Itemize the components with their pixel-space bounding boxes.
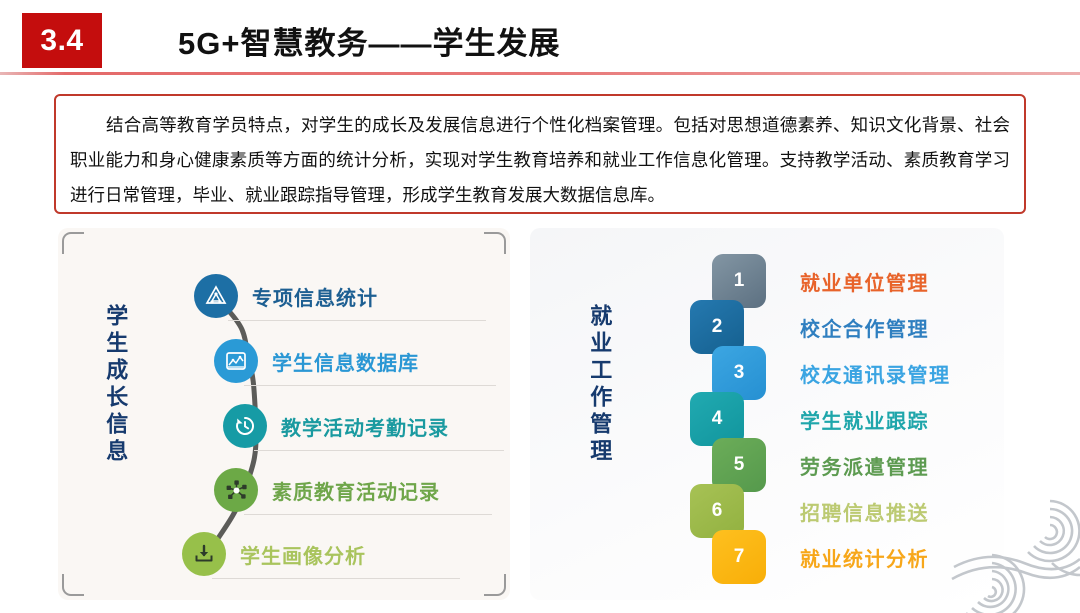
tile-label: 就业单位管理	[800, 267, 929, 296]
section-number-badge: 3.4	[22, 13, 102, 68]
tile-number-badge: 7	[712, 530, 766, 584]
employment-work-vertical-label: 就业工作管理	[586, 304, 611, 466]
flow-node-label: 学生画像分析	[240, 540, 366, 569]
student-growth-card: 学生成长信息 专项信息统计	[58, 228, 510, 600]
network-icon	[214, 468, 258, 512]
import-icon	[182, 532, 226, 576]
node-divider	[244, 514, 492, 515]
flow-node-special-info-statistics[interactable]: 专项信息统计	[194, 274, 378, 318]
flow-node-label: 素质教育活动记录	[272, 476, 440, 505]
node-divider	[228, 320, 486, 321]
flow-node-label: 学生信息数据库	[272, 347, 419, 376]
node-divider	[244, 385, 496, 386]
chart-icon	[214, 339, 258, 383]
page-header: 3.4 5G+智慧教务——学生发展	[0, 0, 1080, 72]
pyramid-icon	[194, 274, 238, 318]
tile-label: 学生就业跟踪	[800, 405, 929, 434]
spiral-rings-decoration	[946, 463, 1080, 613]
tile-label: 劳务派遣管理	[800, 451, 929, 480]
tile-label: 就业统计分析	[800, 543, 929, 572]
section-number: 3.4	[40, 24, 83, 58]
page-title: 5G+智慧教务——学生发展	[178, 18, 560, 63]
tile-row-employment-statistics-analysis[interactable]: 7 就业统计分析	[712, 530, 929, 584]
flow-node-student-profile-analysis[interactable]: 学生画像分析	[182, 532, 366, 576]
tile-label: 招聘信息推送	[800, 497, 929, 526]
intro-box: 结合高等教育学员特点，对学生的成长及发展信息进行个性化档案管理。包括对思想道德素…	[54, 94, 1026, 214]
node-divider	[254, 450, 504, 451]
intro-paragraph: 结合高等教育学员特点，对学生的成长及发展信息进行个性化档案管理。包括对思想道德素…	[56, 96, 1024, 214]
flow-node-label: 专项信息统计	[252, 282, 378, 311]
tile-label: 校友通讯录管理	[800, 359, 951, 388]
flow-node-quality-education-record[interactable]: 素质教育活动记录	[214, 468, 440, 512]
flow-node-label: 教学活动考勤记录	[281, 412, 449, 441]
flow-node-student-info-database[interactable]: 学生信息数据库	[214, 339, 419, 383]
employment-work-card: 就业工作管理 1 就业单位管理 2 校企合作管理 3 校友通讯录管理 4 学生就…	[530, 228, 1004, 600]
history-icon	[223, 404, 267, 448]
tile-label: 校企合作管理	[800, 313, 929, 342]
node-divider	[212, 578, 460, 579]
header-divider	[0, 72, 1080, 75]
flow-node-teaching-attendance-record[interactable]: 教学活动考勤记录	[223, 404, 449, 448]
